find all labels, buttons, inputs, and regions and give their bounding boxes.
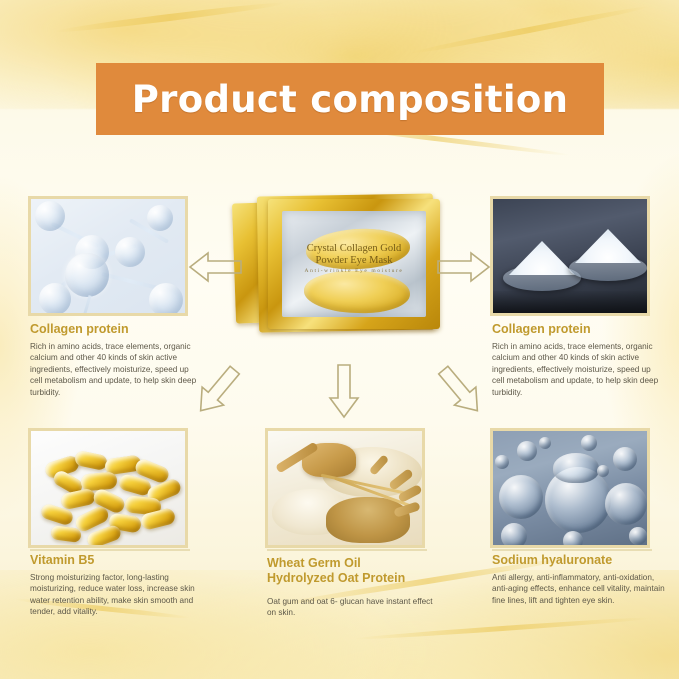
ingredient-title: Sodium hyaluronate [492,553,668,568]
ingredient-title-line-1: Wheat Germ Oil [267,556,443,571]
ingredient-block-wheat-germ-oil: Wheat Germ Oil Hydrolyzed Oat Protein Oa… [267,556,443,619]
divider-wheat [267,549,427,551]
title-banner: Product composition [96,63,604,135]
arrow-down-left-to-vitamin [196,362,240,418]
ingredient-description: Rich in amino acids, trace elements, org… [30,341,202,398]
ingredient-block-vitamin-b5: Vitamin B5 Strong moisturizing factor, l… [30,553,202,618]
ingredient-title: Collagen protein [30,322,202,337]
ingredient-title: Collagen protein [492,322,664,337]
divider-vitamin [30,549,190,551]
arrow-left-to-collagen [190,250,242,284]
vitamin-capsules-photo [28,428,188,548]
ingredient-title: Vitamin B5 [30,553,202,568]
collagen-molecule-photo [28,196,188,316]
ingredient-description: Oat gum and oat 6- glucan have instant e… [267,596,443,619]
ingredient-title-line-2: Hydrolyzed Oat Protein [267,571,443,586]
collagen-powder-photo [490,196,650,316]
ingredient-description: Rich in amino acids, trace elements, org… [492,341,664,398]
product-image: Crystal Collagen Gold Powder Eye Mask An… [232,191,447,343]
ingredient-block-collagen-right: Collagen protein Rich in amino acids, tr… [492,322,664,398]
divider-hyaluronate [492,549,652,551]
ingredient-block-collagen-left: Collagen protein Rich in amino acids, tr… [30,322,202,398]
page-title: Product composition [132,78,568,121]
ingredient-description: Strong moisturizing factor, long-lasting… [30,572,202,618]
wheat-grain-photo [265,428,425,548]
ingredient-block-sodium-hyaluronate: Sodium hyaluronate Anti allergy, anti-in… [492,553,668,606]
water-droplet-photo [490,428,650,548]
arrow-down-right-to-hyaluronate [438,362,482,418]
ingredient-description: Anti allergy, anti-inflammatory, anti-ox… [492,572,668,606]
arrow-down-to-wheat [327,364,361,418]
arrow-right-to-powder [438,250,490,284]
